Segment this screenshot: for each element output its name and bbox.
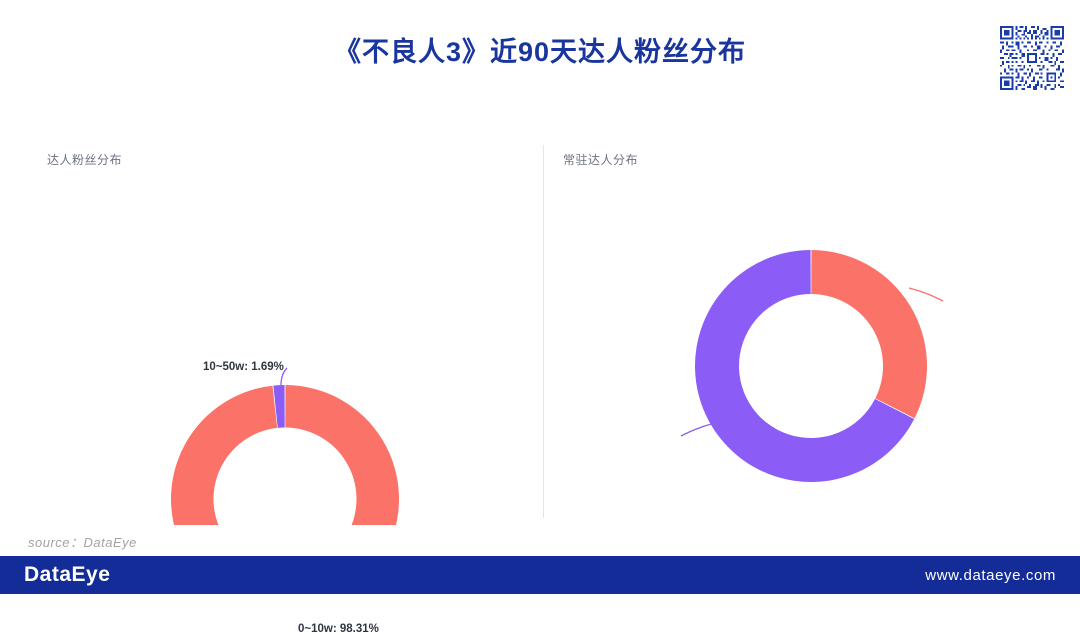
panel-resident-creator-distribution: 常驻达人分布 常驻达人: 32.49% 其他达人: 67.51%	[543, 140, 1080, 525]
slice-label-0-10w: 0~10w: 98.31%	[298, 623, 379, 635]
donut-chart-right	[543, 140, 1080, 525]
donut-right-svg	[543, 140, 1080, 525]
panel-fan-distribution: 达人粉丝分布 10~50w: 1.69% 0~10w: 98.31%	[0, 140, 543, 525]
leader-line-resident	[909, 288, 943, 301]
dataeye-logo[interactable]: DataEye	[24, 563, 110, 587]
source-note: source：DataEye	[28, 532, 137, 551]
page-title: 《不良人3》近90天达人粉丝分布	[0, 36, 1080, 68]
qr-code[interactable]	[1000, 26, 1064, 90]
footer-website-url[interactable]: www.dataeye.com	[925, 567, 1056, 584]
slice-0-10w[interactable]	[171, 385, 399, 525]
qr-code-image	[1000, 26, 1064, 90]
donut-left-slices	[171, 385, 399, 525]
leader-line-other	[681, 423, 715, 436]
donut-right-slices	[695, 250, 927, 482]
slice-resident[interactable]	[811, 250, 927, 418]
donut-left-svg	[0, 140, 543, 525]
charts-region: 达人粉丝分布 10~50w: 1.69% 0~10w: 98.31% 常驻达人分…	[0, 140, 1080, 525]
footer-bar: DataEye www.dataeye.com	[0, 556, 1080, 594]
slice-label-10-50w: 10~50w: 1.69%	[203, 361, 284, 373]
donut-chart-left	[0, 140, 543, 525]
